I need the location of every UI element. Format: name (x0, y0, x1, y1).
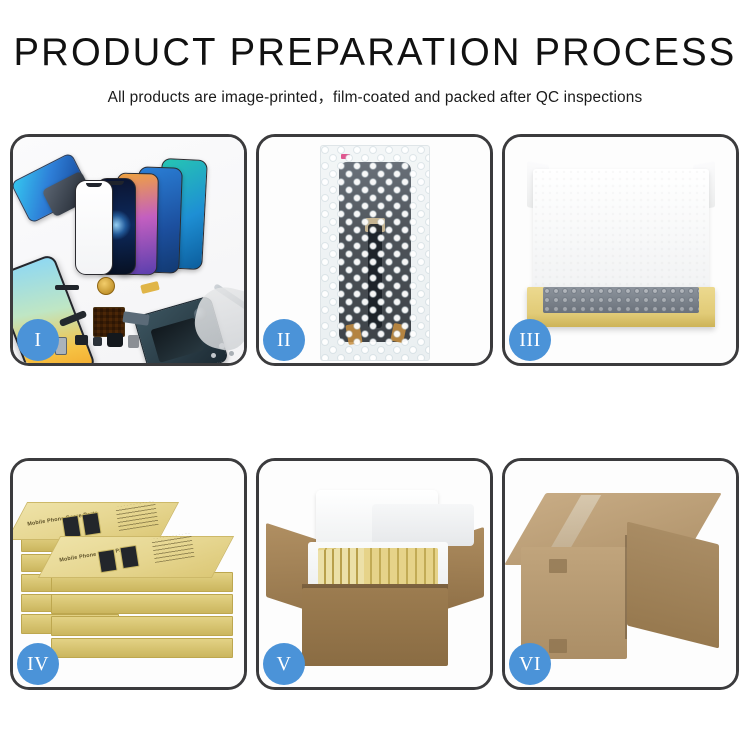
step-panel-3: III (502, 134, 739, 366)
button-part-icon (75, 335, 88, 345)
inner-box-assembly-icon (521, 155, 721, 345)
open-carton-icon (270, 484, 480, 674)
speaker-icon (55, 285, 79, 290)
step-badge-6: VI (509, 643, 551, 685)
carton-side-face-icon (627, 521, 719, 648)
carton-handle-tab-icon (549, 559, 567, 573)
foam-texture-icon (533, 169, 709, 289)
button-part-icon (93, 337, 102, 346)
step-badge-3: III (509, 319, 551, 361)
bubble-wrapped-items-icon (543, 287, 699, 313)
step-panel-2: II (256, 134, 493, 366)
foam-sheet-icon (533, 169, 709, 289)
page-title: PRODUCT PREPARATION PROCESS (8, 30, 743, 76)
box-edge-icon (51, 594, 233, 614)
box-front-edge-icon (527, 313, 715, 327)
carton-body-icon (302, 588, 448, 666)
step-panel-6: VI (502, 458, 739, 690)
carton-front-face-icon (521, 547, 627, 659)
bubble-wrap-bag-icon (320, 145, 430, 361)
box-screen-print-icon (97, 549, 117, 573)
buzzer-icon (107, 333, 123, 347)
step-panel-5: V (256, 458, 493, 690)
infographic-page: PRODUCT PREPARATION PROCESS All products… (0, 0, 750, 750)
phone-screen-white-icon (75, 180, 113, 275)
carton-edge-icon (625, 535, 627, 639)
page-subtitle: All products are image-printed，film-coat… (0, 85, 750, 107)
carton-handle-tab-icon (549, 639, 567, 653)
screw-icon (229, 351, 234, 356)
sealed-carton-icon (521, 493, 721, 665)
screw-icon (211, 353, 216, 358)
step-badge-4: IV (17, 643, 59, 685)
step-panel-4: Mobile Phone Spare Parts Mobile Phone Sp… (10, 458, 247, 690)
box-edge-icon (51, 616, 233, 636)
box-edge-icon (51, 638, 233, 658)
header: PRODUCT PREPARATION PROCESS All products… (0, 0, 750, 107)
phone-notch-icon (86, 183, 102, 187)
process-grid: I II (10, 134, 740, 690)
foam-lid-inner-icon (372, 504, 474, 546)
box-screen-print-icon (119, 545, 139, 569)
chip-icon (128, 335, 139, 348)
bubble-texture-icon (321, 146, 429, 360)
box-screen-print-icon (81, 512, 101, 536)
foam-lid-icon (316, 490, 438, 550)
step-badge-5: V (263, 643, 305, 685)
wireless-coil-icon (97, 277, 115, 295)
step-panel-1: I (10, 134, 247, 366)
step-badge-2: II (263, 319, 305, 361)
step-badge-1: I (17, 319, 59, 361)
box-stack-icon: Mobile Phone Spare Parts Mobile Phone Sp… (21, 476, 237, 672)
